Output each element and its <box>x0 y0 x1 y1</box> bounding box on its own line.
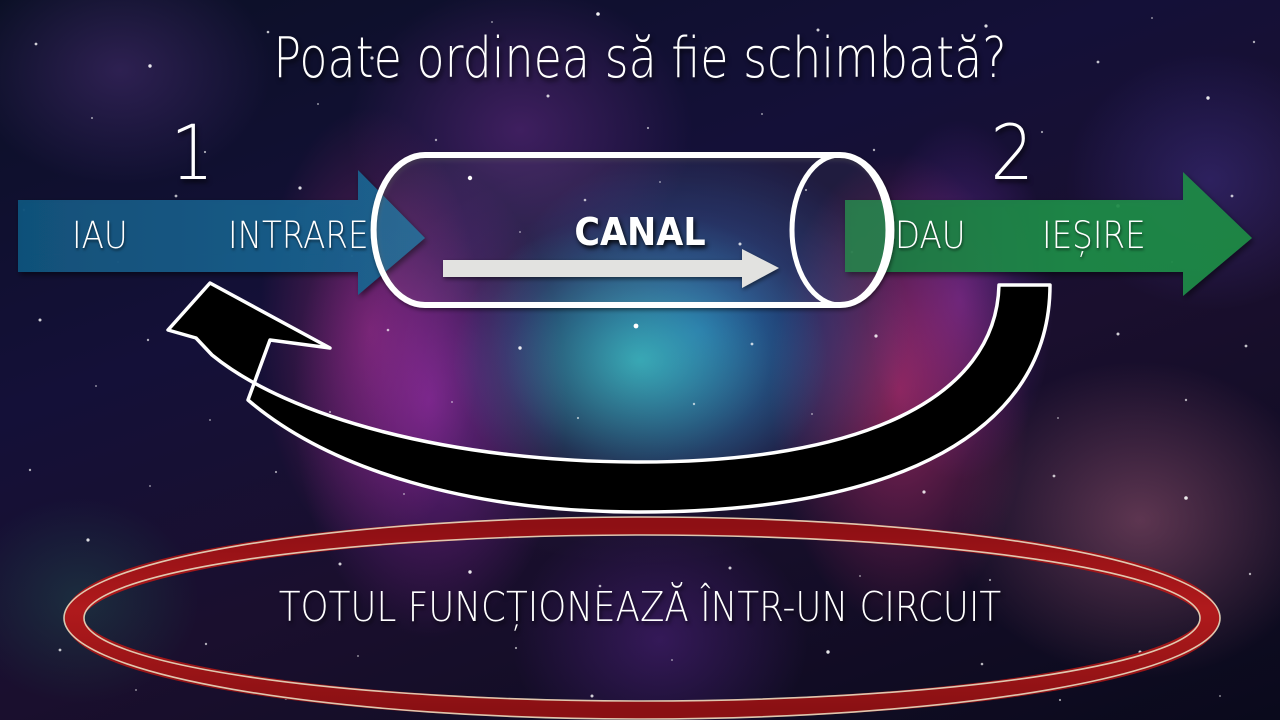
channel-label: CANAL <box>51 210 1229 254</box>
curved-feedback-arrow-icon <box>168 283 1050 512</box>
page-title: Poate ordinea să fie schimbată? <box>115 26 1165 91</box>
slide-canvas: Poate ordinea să fie schimbată? 1 2 IAU … <box>0 0 1280 720</box>
circuit-label: TOTUL FUNCȚIONEAZĂ ÎNTR-UN CIRCUIT <box>83 583 1197 631</box>
step-number-1: 1 <box>170 108 214 197</box>
step-number-2: 2 <box>990 108 1034 197</box>
